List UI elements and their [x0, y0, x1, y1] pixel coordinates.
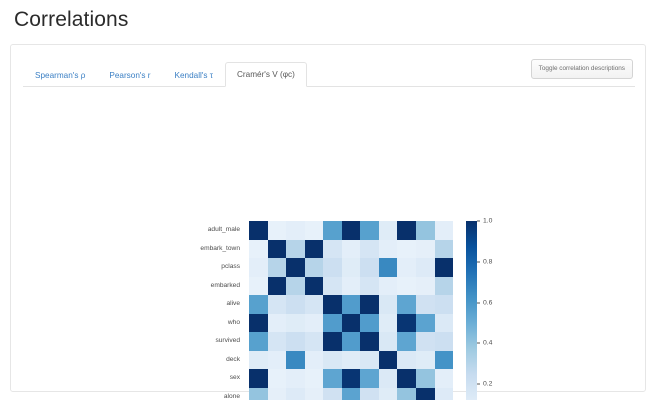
heatmap-cell: [268, 388, 287, 400]
heatmap-cell: [416, 314, 435, 333]
heatmap-cell: [323, 332, 342, 351]
tab-cramers-v[interactable]: Cramér's V (φc): [225, 62, 307, 87]
heatmap-cell: [416, 369, 435, 388]
heatmap-cell: [435, 295, 454, 314]
page-title: Correlations: [14, 6, 128, 34]
heatmap-cell: [416, 295, 435, 314]
heatmap-cell: [360, 221, 379, 240]
heatmap-cell: [268, 332, 287, 351]
heatmap-cell: [286, 221, 305, 240]
heatmap-cell: [286, 295, 305, 314]
heatmap-cell: [397, 240, 416, 259]
colorbar-tick: 0.4: [477, 340, 492, 347]
heatmap-cell: [435, 314, 454, 333]
heatmap-cell: [379, 240, 398, 259]
colorbar-ticks: 0.00.20.40.60.81.0: [477, 221, 517, 400]
heatmap-y-label: alive: [171, 295, 245, 314]
heatmap-cell: [360, 240, 379, 259]
heatmap-y-label: embarked: [171, 277, 245, 296]
heatmap-cell: [268, 258, 287, 277]
heatmap-cell: [249, 240, 268, 259]
heatmap-cell: [397, 351, 416, 370]
heatmap-cell: [397, 221, 416, 240]
heatmap-cell: [435, 332, 454, 351]
heatmap-cell: [286, 314, 305, 333]
heatmap-cell: [249, 314, 268, 333]
heatmap-cell: [249, 295, 268, 314]
heatmap-cell: [379, 314, 398, 333]
heatmap-cell: [305, 369, 324, 388]
heatmap-cell: [416, 332, 435, 351]
colorbar-gradient: [466, 221, 477, 400]
heatmap-cell: [249, 221, 268, 240]
heatmap-cell: [342, 240, 361, 259]
heatmap-cell: [286, 240, 305, 259]
tab-kendall[interactable]: Kendall's τ: [163, 63, 225, 87]
heatmap-cell: [268, 221, 287, 240]
heatmap-cell: [379, 369, 398, 388]
correlations-page: Correlations Spearman's ρ Pearson's r Ke…: [0, 0, 655, 400]
colorbar-tick-label: 0.2: [483, 381, 492, 388]
colorbar-tick: 0.8: [477, 258, 492, 265]
heatmap-cell: [360, 351, 379, 370]
heatmap-cell: [305, 258, 324, 277]
heatmap-y-label: sex: [171, 369, 245, 388]
heatmap-y-label: deck: [171, 351, 245, 370]
heatmap-cell: [286, 351, 305, 370]
heatmap-cell: [397, 277, 416, 296]
heatmap-cell: [416, 258, 435, 277]
heatmap-cell: [249, 277, 268, 296]
colorbar-tick-label: 0.8: [483, 258, 492, 265]
heatmap-grid: [249, 221, 453, 400]
heatmap-cell: [416, 277, 435, 296]
heatmap-cell: [286, 369, 305, 388]
heatmap-cell: [268, 314, 287, 333]
colorbar-tick: 0.2: [477, 381, 492, 388]
heatmap-cell: [305, 295, 324, 314]
correlations-card: Spearman's ρ Pearson's r Kendall's τ Cra…: [10, 44, 646, 392]
heatmap-cell: [416, 221, 435, 240]
heatmap-cell: [435, 369, 454, 388]
heatmap-cell: [379, 258, 398, 277]
heatmap-cell: [397, 258, 416, 277]
heatmap-cell: [286, 258, 305, 277]
colorbar-tick-label: 0.4: [483, 340, 492, 347]
colorbar-tick-mark: [477, 343, 480, 344]
heatmap-y-label: embark_town: [171, 240, 245, 259]
colorbar-tick: 0.6: [477, 299, 492, 306]
correlation-heatmap-plot: adult_maleembark_townpclassembarkedalive…: [11, 103, 647, 393]
heatmap-cell: [286, 277, 305, 296]
heatmap-cell: [342, 277, 361, 296]
heatmap-cell: [379, 221, 398, 240]
heatmap-cell: [360, 388, 379, 400]
heatmap-cell: [249, 332, 268, 351]
colorbar-tick-mark: [477, 384, 480, 385]
heatmap-cell: [435, 258, 454, 277]
heatmap-cell: [342, 332, 361, 351]
heatmap-cell: [323, 221, 342, 240]
heatmap-cell: [305, 240, 324, 259]
toggle-correlation-descriptions-button[interactable]: Toggle correlation descriptions: [531, 59, 633, 79]
heatmap-cell: [323, 351, 342, 370]
heatmap-cell: [342, 295, 361, 314]
heatmap-cell: [305, 351, 324, 370]
heatmap-cell: [360, 295, 379, 314]
heatmap-cell: [323, 388, 342, 400]
heatmap-cell: [360, 369, 379, 388]
heatmap-cell: [360, 277, 379, 296]
heatmap-cell: [305, 221, 324, 240]
heatmap-cell: [397, 369, 416, 388]
heatmap-cell: [342, 221, 361, 240]
heatmap-cell: [397, 388, 416, 400]
heatmap-cell: [268, 295, 287, 314]
heatmap-cell: [305, 332, 324, 351]
heatmap-cell: [305, 277, 324, 296]
heatmap-cell: [249, 369, 268, 388]
heatmap-cell: [416, 351, 435, 370]
tab-spearman[interactable]: Spearman's ρ: [23, 63, 97, 87]
heatmap-cell: [323, 369, 342, 388]
heatmap-y-label: adult_male: [171, 221, 245, 240]
heatmap-cell: [268, 369, 287, 388]
heatmap-cell: [435, 221, 454, 240]
heatmap-cell: [305, 314, 324, 333]
heatmap-cell: [323, 295, 342, 314]
heatmap-cell: [342, 351, 361, 370]
heatmap-cell: [342, 314, 361, 333]
heatmap-cell: [268, 240, 287, 259]
heatmap-cell: [342, 388, 361, 400]
heatmap-cell: [397, 332, 416, 351]
heatmap-cell: [360, 258, 379, 277]
heatmap-cell: [286, 332, 305, 351]
heatmap-y-label: alone: [171, 388, 245, 400]
tab-pearson[interactable]: Pearson's r: [97, 63, 162, 87]
heatmap-cell: [435, 240, 454, 259]
heatmap-cell: [397, 295, 416, 314]
heatmap-cell: [360, 314, 379, 333]
heatmap-cell: [379, 277, 398, 296]
heatmap-cell: [360, 332, 379, 351]
colorbar-tick-label: 0.6: [483, 299, 492, 306]
heatmap-cell: [379, 351, 398, 370]
heatmap-cell: [249, 388, 268, 400]
heatmap-cell: [323, 277, 342, 296]
heatmap-cell: [286, 388, 305, 400]
heatmap-cell: [323, 314, 342, 333]
heatmap-cell: [416, 388, 435, 400]
heatmap-cell: [435, 351, 454, 370]
heatmap-cell: [397, 314, 416, 333]
colorbar-tick-mark: [477, 302, 480, 303]
heatmap-cell: [268, 351, 287, 370]
heatmap-cell: [249, 351, 268, 370]
heatmap-cell: [323, 240, 342, 259]
heatmap-y-label: pclass: [171, 258, 245, 277]
colorbar-tick-mark: [477, 221, 480, 222]
heatmap-y-axis-labels: adult_maleembark_townpclassembarkedalive…: [171, 221, 245, 400]
heatmap-cell: [379, 332, 398, 351]
heatmap-cell: [379, 388, 398, 400]
heatmap-cell: [249, 258, 268, 277]
heatmap-cell: [342, 258, 361, 277]
heatmap-cell: [379, 295, 398, 314]
heatmap-cell: [416, 240, 435, 259]
heatmap-cell: [323, 258, 342, 277]
colorbar-tick-mark: [477, 261, 480, 262]
heatmap-cell: [342, 369, 361, 388]
heatmap-cell: [435, 277, 454, 296]
heatmap-y-label: survived: [171, 332, 245, 351]
heatmap-y-label: who: [171, 314, 245, 333]
colorbar-tick: 1.0: [477, 218, 492, 225]
colorbar-tick-label: 1.0: [483, 218, 492, 225]
heatmap-cell: [305, 388, 324, 400]
heatmap-cell: [435, 388, 454, 400]
heatmap-cell: [268, 277, 287, 296]
